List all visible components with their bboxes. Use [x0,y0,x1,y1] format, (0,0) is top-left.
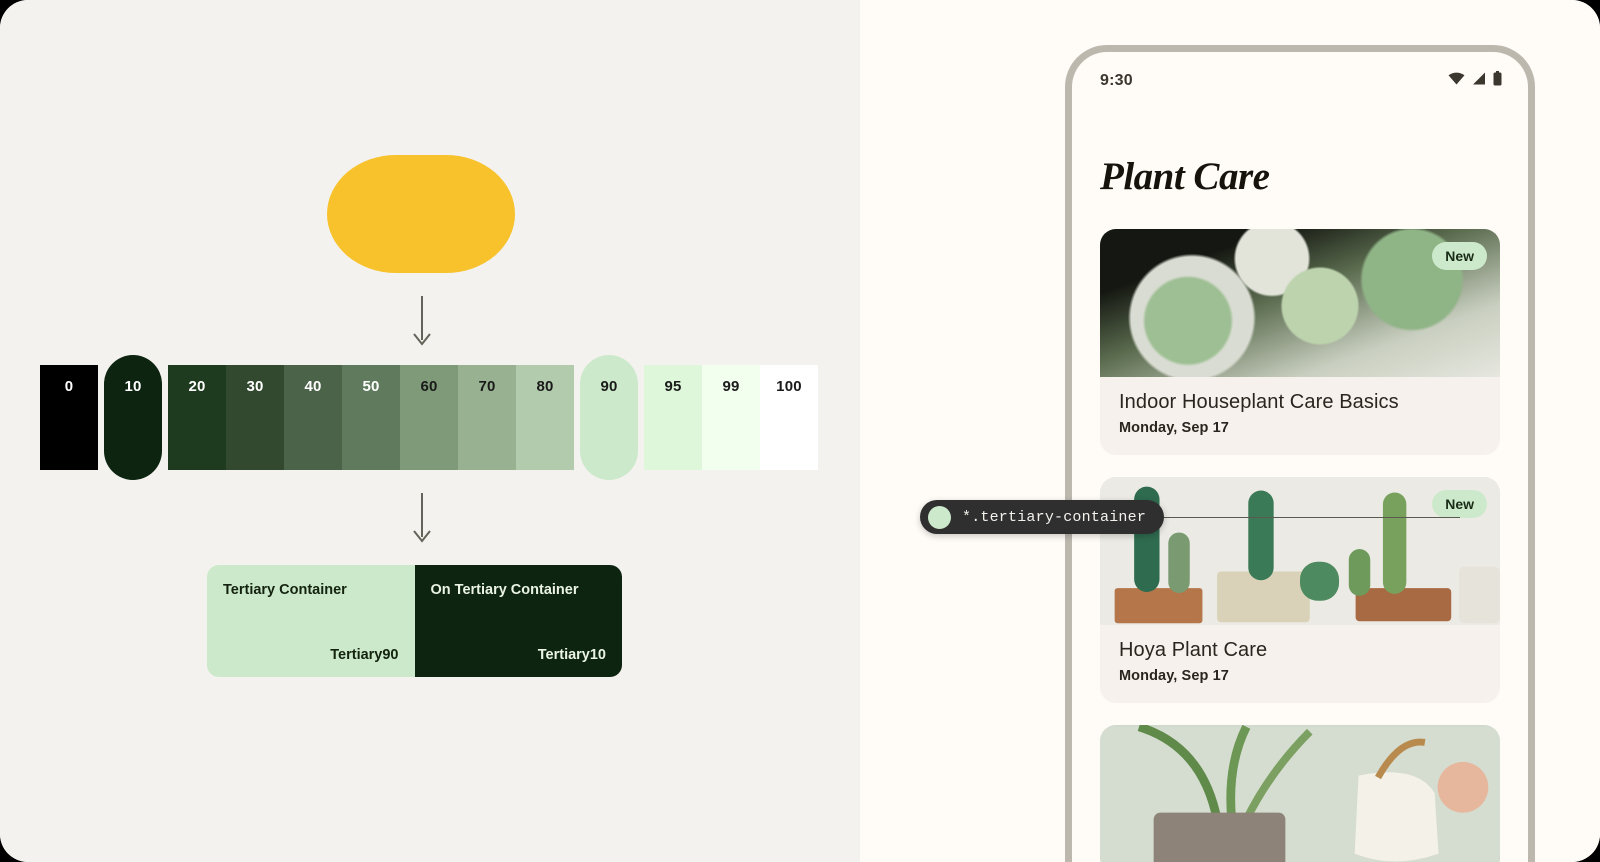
palette-swatch-label: 70 [478,379,495,394]
palette-swatch-95[interactable]: 95 [644,365,702,470]
tonal-role-label: Tertiary Container [223,583,399,598]
callout-token-label: *.tertiary-container [962,509,1146,526]
palette-swatch-label: 100 [776,379,802,394]
palette-swatch-40[interactable]: 40 [284,365,342,470]
palette-swatch-label: 10 [124,379,141,394]
watering-illustration [1100,725,1500,862]
palette-swatch-100[interactable]: 100 [760,365,818,470]
status-bar-icons [1448,71,1502,91]
source-color-swatch [327,155,515,273]
card-date: Monday, Sep 17 [1119,668,1481,684]
page-title: Plant Care [1100,154,1528,199]
tonal-role-on-tertiary-container[interactable]: On Tertiary ContainerTertiary10 [415,565,623,677]
page-root: 01020304050607080909599100 Tertiary Cont… [0,0,1600,862]
status-bar-clock: 9:30 [1100,72,1133,90]
palette-swatch-label: 40 [304,379,321,394]
plant-care-card[interactable] [1100,725,1500,862]
card-date: Monday, Sep 17 [1119,420,1481,436]
palette-swatch-90[interactable]: 90 [580,355,638,480]
phone-preview-panel: 9:30 Plant Care [860,0,1600,862]
phone-mockup: 9:30 Plant Care [1065,45,1535,862]
tonal-palette-strip: 01020304050607080909599100 [40,365,818,470]
tonal-role-tone: Tertiary10 [538,647,606,663]
palette-swatch-label: 30 [246,379,263,394]
palette-swatch-label: 50 [362,379,379,394]
tonal-role-label: On Tertiary Container [431,583,607,598]
palette-swatch-label: 95 [664,379,681,394]
plant-care-card[interactable]: NewIndoor Houseplant Care BasicsMonday, … [1100,229,1500,455]
signal-icon [1472,72,1486,90]
tertiary-container-color-dot [928,506,951,529]
status-badge[interactable]: New [1432,490,1487,518]
status-bar: 9:30 [1072,52,1528,110]
palette-swatch-99[interactable]: 99 [702,365,760,470]
palette-swatch-label: 80 [536,379,553,394]
palette-swatch-30[interactable]: 30 [226,365,284,470]
palette-swatch-label: 90 [600,379,617,394]
card-title: Hoya Plant Care [1119,638,1481,662]
card-image: New [1100,477,1500,625]
tertiary-container-roles: Tertiary ContainerTertiary90On Tertiary … [207,565,622,677]
palette-swatch-label: 99 [722,379,739,394]
palette-swatch-label: 20 [188,379,205,394]
palette-swatch-70[interactable]: 70 [458,365,516,470]
battery-icon [1493,71,1502,91]
tonal-role-tertiary-container[interactable]: Tertiary ContainerTertiary90 [207,565,415,677]
tonal-palette-panel: 01020304050607080909599100 Tertiary Cont… [0,0,860,862]
status-badge[interactable]: New [1432,242,1487,270]
card-image [1100,725,1500,862]
palette-swatch-label: 60 [420,379,437,394]
card-title: Indoor Houseplant Care Basics [1119,390,1481,414]
arrow-down-icon-bottom [409,493,435,545]
card-body: Indoor Houseplant Care BasicsMonday, Sep… [1100,377,1500,455]
palette-swatch-0[interactable]: 0 [40,365,98,470]
plant-care-card-list: NewIndoor Houseplant Care BasicsMonday, … [1072,229,1528,862]
card-image: New [1100,229,1500,377]
arrow-down-icon-top [409,296,435,348]
token-callout: *.tertiary-container [920,500,1164,534]
wifi-icon [1448,72,1465,90]
palette-swatch-20[interactable]: 20 [168,365,226,470]
palette-swatch-80[interactable]: 80 [516,365,574,470]
card-body: Hoya Plant CareMonday, Sep 17 [1100,625,1500,703]
palette-swatch-60[interactable]: 60 [400,365,458,470]
palette-swatch-10[interactable]: 10 [104,355,162,480]
palette-swatch-50[interactable]: 50 [342,365,400,470]
palette-swatch-label: 0 [65,379,74,394]
tonal-role-tone: Tertiary90 [330,647,398,663]
